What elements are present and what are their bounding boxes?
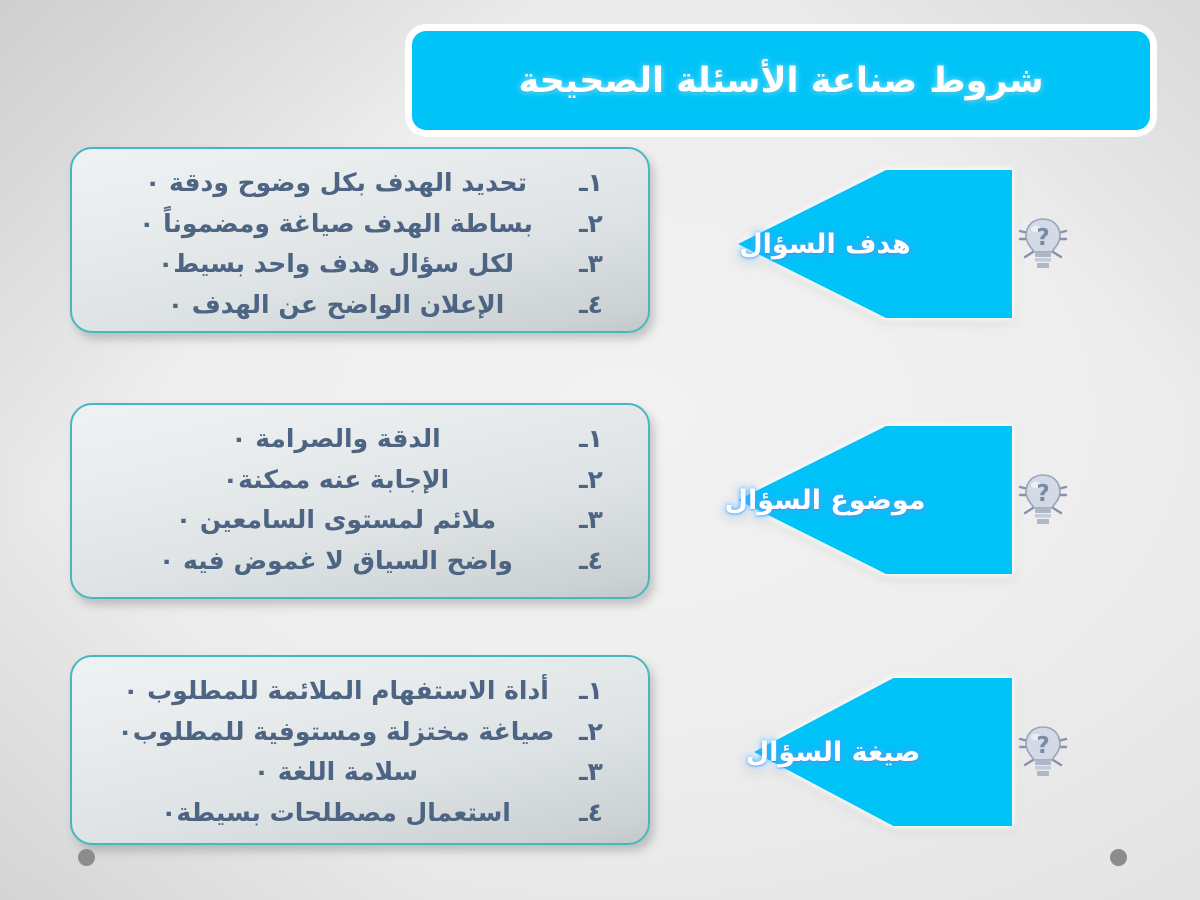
list-item: ٢ـ الإجابة عنه ممكنة٠	[98, 460, 622, 501]
item-text: سلامة اللغة ٠	[98, 752, 560, 793]
list-item: ٣ـ ملائم لمستوى السامعين ٠	[98, 500, 622, 541]
callout-label: موضوع السؤال	[725, 485, 926, 516]
svg-text:?: ?	[1036, 733, 1049, 759]
list-item: ٤ـ واضح السياق لا غموض فيه ٠	[98, 541, 622, 582]
item-text: واضح السياق لا غموض فيه ٠	[98, 541, 560, 582]
item-number: ٤ـ	[560, 541, 622, 582]
item-text: صياغة مختزلة ومستوفية للمطلوب٠	[98, 712, 560, 753]
item-text: ملائم لمستوى السامعين ٠	[98, 500, 560, 541]
svg-text:?: ?	[1036, 225, 1049, 251]
list-item: ١ـ تحديد الهدف بكل وضوح ودقة ٠	[98, 163, 622, 204]
item-number: ٣ـ	[560, 500, 622, 541]
item-number: ٤ـ	[560, 285, 622, 326]
criteria-list-2: ١ـ الدقة والصرامة ٠ ٢ـ الإجابة عنه ممكنة…	[98, 419, 622, 581]
list-item: ٢ـ بساطة الهدف صياغة ومضموناً ٠	[98, 204, 622, 245]
item-number: ١ـ	[560, 163, 622, 204]
item-text: أداة الاستفهام الملائمة للمطلوب ٠	[98, 671, 560, 712]
item-number: ٢ـ	[560, 712, 622, 753]
page-title: شروط صناعة الأسئلة الصحيحة	[518, 61, 1043, 101]
decorative-dot-left	[78, 849, 95, 866]
callout-2: ? موضوع السؤال	[664, 426, 1070, 574]
item-text: بساطة الهدف صياغة ومضموناً ٠	[98, 204, 560, 245]
callout-label: هدف السؤال	[739, 229, 911, 260]
question-lightbulb-icon: ?	[1016, 213, 1070, 275]
item-text: الإعلان الواضح عن الهدف ٠	[98, 285, 560, 326]
svg-text:?: ?	[1036, 481, 1049, 507]
item-number: ٢ـ	[560, 460, 622, 501]
item-text: تحديد الهدف بكل وضوح ودقة ٠	[98, 163, 560, 204]
question-lightbulb-icon: ?	[1016, 469, 1070, 531]
callout-arrow-2: موضوع السؤال	[664, 426, 1012, 574]
item-text: الإجابة عنه ممكنة٠	[98, 460, 560, 501]
criteria-panel-3: ١ـ أداة الاستفهام الملائمة للمطلوب ٠ ٢ـ …	[70, 655, 650, 845]
list-item: ١ـ أداة الاستفهام الملائمة للمطلوب ٠	[98, 671, 622, 712]
callout-3: ? صيغة السؤال	[680, 678, 1070, 826]
item-number: ١ـ	[560, 419, 622, 460]
list-item: ٤ـ استعمال مصطلحات بسيطة٠	[98, 793, 622, 834]
question-lightbulb-icon: ?	[1016, 721, 1070, 783]
callout-label: صيغة السؤال	[746, 737, 921, 768]
item-number: ٢ـ	[560, 204, 622, 245]
item-number: ٣ـ	[560, 752, 622, 793]
criteria-list-1: ١ـ تحديد الهدف بكل وضوح ودقة ٠ ٢ـ بساطة …	[98, 163, 622, 325]
list-item: ١ـ الدقة والصرامة ٠	[98, 419, 622, 460]
item-number: ١ـ	[560, 671, 622, 712]
criteria-panel-1: ١ـ تحديد الهدف بكل وضوح ودقة ٠ ٢ـ بساطة …	[70, 147, 650, 333]
decorative-dot-right	[1110, 849, 1127, 866]
presentation-slide: شروط صناعة الأسئلة الصحيحة ١ـ تحديد الهد…	[0, 0, 1200, 900]
criteria-list-3: ١ـ أداة الاستفهام الملائمة للمطلوب ٠ ٢ـ …	[98, 671, 622, 833]
section-row-1: ١ـ تحديد الهدف بكل وضوح ودقة ٠ ٢ـ بساطة …	[0, 142, 1200, 342]
section-row-2: ١ـ الدقة والصرامة ٠ ٢ـ الإجابة عنه ممكنة…	[0, 398, 1200, 598]
criteria-panel-2: ١ـ الدقة والصرامة ٠ ٢ـ الإجابة عنه ممكنة…	[70, 403, 650, 599]
item-number: ٣ـ	[560, 244, 622, 285]
slide-title-banner: شروط صناعة الأسئلة الصحيحة	[412, 31, 1150, 130]
item-text: استعمال مصطلحات بسيطة٠	[98, 793, 560, 834]
item-text: لكل سؤال هدف واحد بسيط٠	[98, 244, 560, 285]
list-item: ٣ـ سلامة اللغة ٠	[98, 752, 622, 793]
item-number: ٤ـ	[560, 793, 622, 834]
callout-arrow-1: هدف السؤال	[664, 170, 1012, 318]
item-text: الدقة والصرامة ٠	[98, 419, 560, 460]
list-item: ٢ـ صياغة مختزلة ومستوفية للمطلوب٠	[98, 712, 622, 753]
list-item: ٣ـ لكل سؤال هدف واحد بسيط٠	[98, 244, 622, 285]
list-item: ٤ـ الإعلان الواضح عن الهدف ٠	[98, 285, 622, 326]
section-row-3: ١ـ أداة الاستفهام الملائمة للمطلوب ٠ ٢ـ …	[0, 650, 1200, 850]
callout-arrow-3: صيغة السؤال	[680, 678, 1012, 826]
callout-1: ? هدف السؤال	[664, 170, 1070, 318]
